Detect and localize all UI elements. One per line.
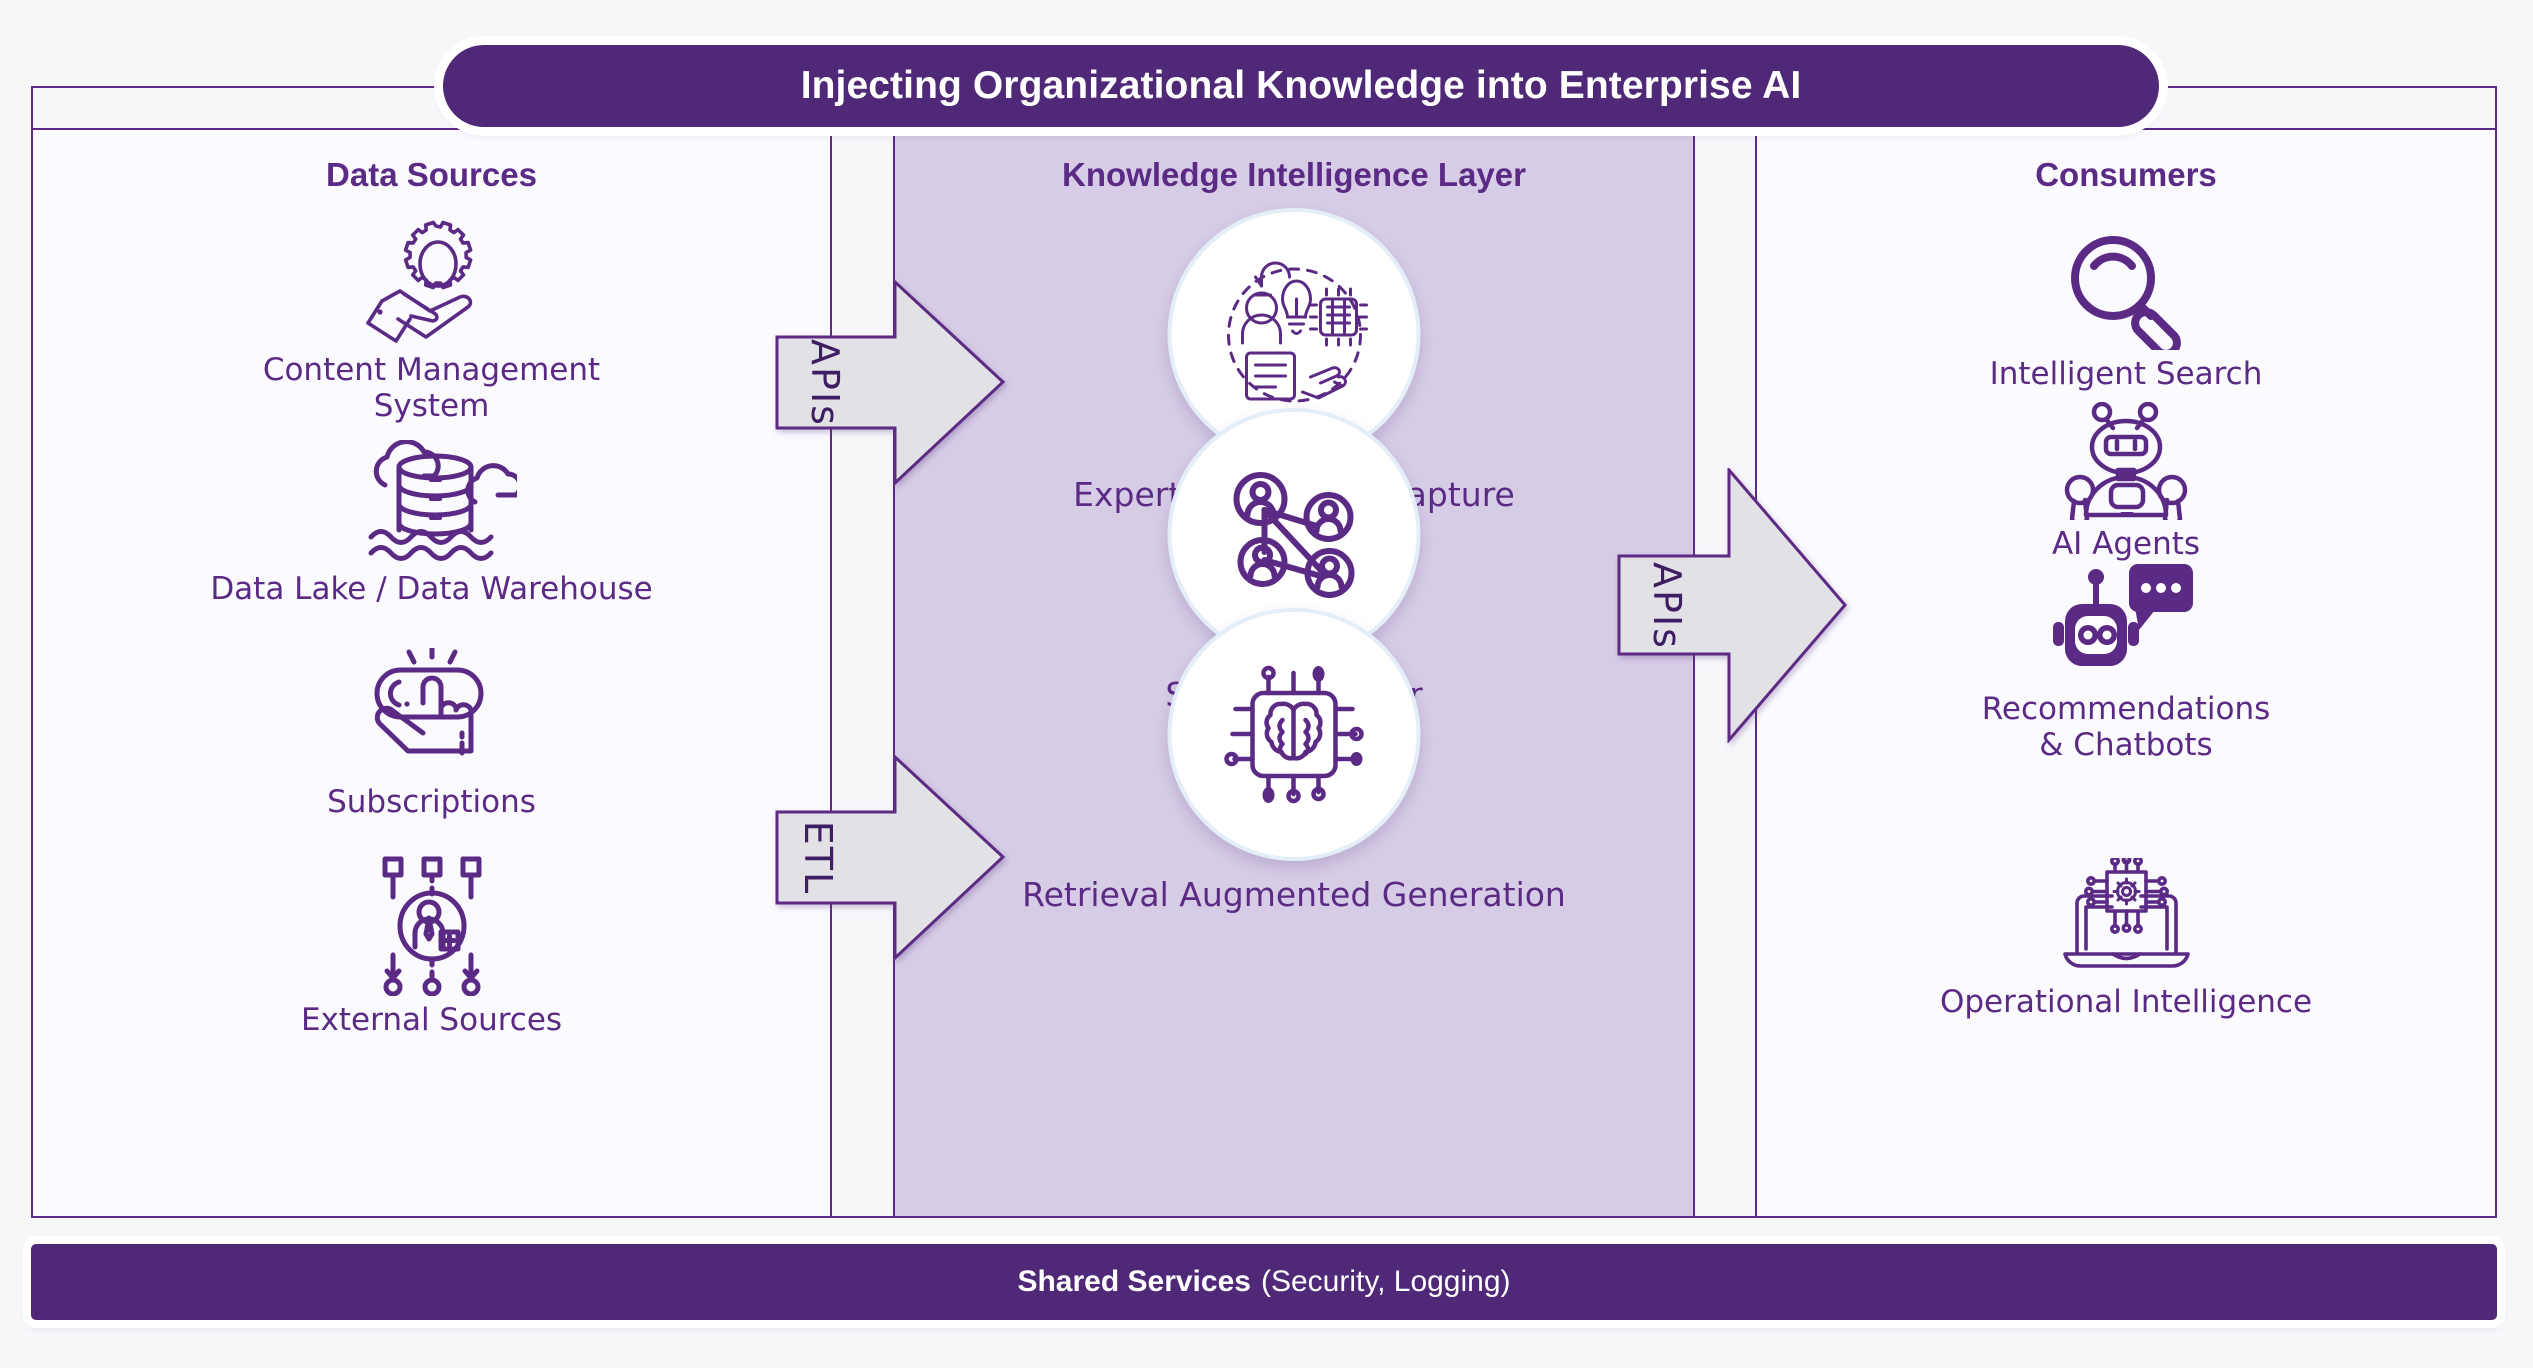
knowledge-layer-title: Knowledge Intelligence Layer [895, 156, 1693, 194]
consumer-label-recommendations-chatbots: Recommendations & Chatbots [1757, 691, 2495, 764]
data-lake-cloud-database-icon [33, 440, 830, 565]
label-line-1: Content Management [33, 352, 830, 388]
label-line-1: Subscriptions [33, 784, 830, 820]
label-line-1: Recommendations [1757, 691, 2495, 727]
kil-item-rag[interactable] [1168, 608, 1421, 861]
page-title: Injecting Organizational Knowledge into … [443, 45, 2159, 127]
brain-chip-icon [1222, 662, 1367, 807]
laptop-gear-circuit-icon [1757, 858, 2495, 978]
label-line-1: External Sources [33, 1002, 830, 1038]
diagram-canvas: Data Sources Content Management System [0, 0, 2533, 1368]
panel-knowledge-intelligence-layer: Knowledge Intelligence Layer [893, 128, 1695, 1218]
arrow-apis-right[interactable]: APIs [1617, 468, 1847, 743]
external-user-network-icon [33, 856, 830, 996]
semantic-network-people-icon [1224, 465, 1364, 605]
data-source-label-subscriptions: Subscriptions [33, 784, 830, 820]
data-source-item-cms[interactable]: Content Management System [33, 216, 830, 425]
data-source-label-data-lake: Data Lake / Data Warehouse [33, 571, 830, 607]
label-line-1: Operational Intelligence [1757, 984, 2495, 1020]
label-line-2: System [33, 388, 830, 424]
label-line-1: Intelligent Search [1757, 356, 2495, 392]
expert-knowledge-capture-icon [1214, 255, 1374, 415]
data-source-item-data-lake[interactable]: Data Lake / Data Warehouse [33, 440, 830, 607]
shared-services-bar: Shared Services (Security, Logging) [31, 1244, 2497, 1320]
consumer-label-intelligent-search: Intelligent Search [1757, 356, 2495, 392]
label-line-1: Data Lake / Data Warehouse [33, 571, 830, 607]
label-line-2: & Chatbots [1757, 727, 2495, 763]
consumer-label-ai-agents: AI Agents [1757, 526, 2495, 562]
arrow-etl[interactable]: ETL [775, 755, 1005, 960]
consumer-item-operational-intelligence[interactable]: Operational Intelligence [1757, 858, 2495, 1020]
hand-holding-gear-icon [33, 216, 830, 346]
chatbot-solid-icon [1757, 560, 2495, 685]
consumer-item-recommendations-chatbots[interactable]: Recommendations & Chatbots [1757, 560, 2495, 764]
data-source-label-external: External Sources [33, 1002, 830, 1038]
data-source-item-external[interactable]: External Sources [33, 856, 830, 1038]
panel-consumers: Consumers Intelligent Search [1755, 128, 2497, 1218]
data-source-label-cms: Content Management System [33, 352, 830, 425]
consumer-item-ai-agents[interactable]: AI Agents [1757, 402, 2495, 562]
shared-services-strong: Shared Services [1017, 1265, 1250, 1299]
data-source-item-subscriptions[interactable]: Subscriptions [33, 648, 830, 820]
consumer-label-operational-intelligence: Operational Intelligence [1757, 984, 2495, 1020]
data-sources-title: Data Sources [33, 156, 830, 194]
kil-label-rag: Retrieval Augmented Generation [895, 875, 1693, 914]
arrow-apis-top[interactable]: APIs [775, 280, 1005, 485]
label-line-1: AI Agents [1757, 526, 2495, 562]
robot-outline-icon [1757, 402, 2495, 520]
consumer-item-intelligent-search[interactable]: Intelligent Search [1757, 230, 2495, 392]
hand-tap-subscribe-icon [33, 648, 830, 778]
magnifier-search-icon [1757, 230, 2495, 350]
consumers-title: Consumers [1757, 156, 2495, 194]
shared-services-rest: (Security, Logging) [1261, 1265, 1511, 1299]
panel-data-sources: Data Sources Content Management System [31, 128, 832, 1218]
